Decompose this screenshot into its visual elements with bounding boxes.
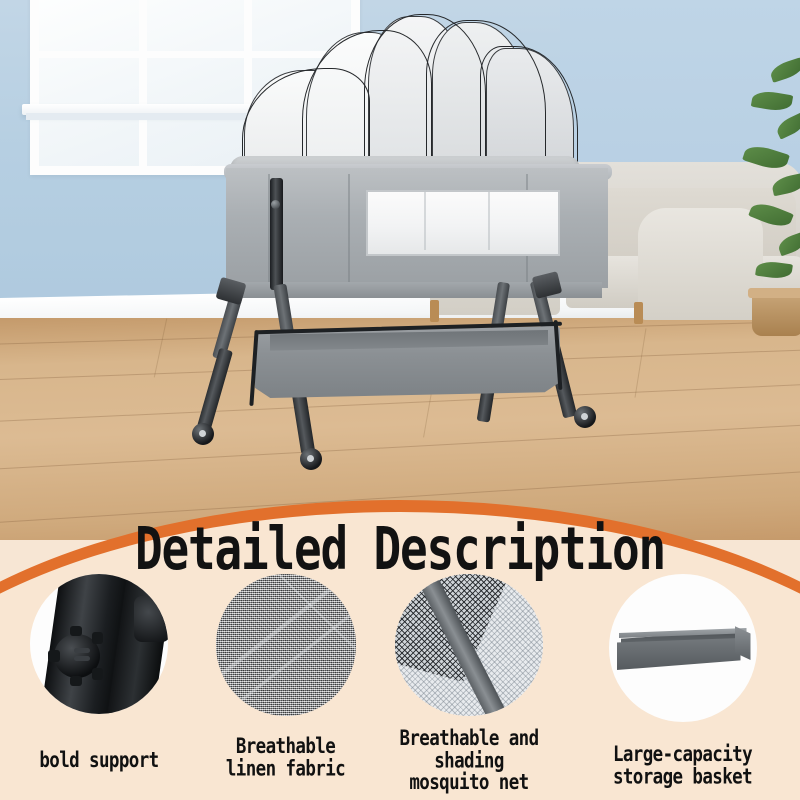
feature-caption: Breathable linen fabric xyxy=(198,736,373,781)
caster-hub xyxy=(581,413,588,420)
bassinet-mesh-window xyxy=(366,190,560,256)
caption-line: Large-capacity xyxy=(565,744,800,766)
feature-item[interactable]: bold support xyxy=(0,572,198,792)
bassinet xyxy=(170,8,640,508)
caption-line: mosquito net xyxy=(373,773,565,795)
mosquito-net-photo xyxy=(395,574,543,716)
plant-pot-rim xyxy=(748,288,800,298)
caption-line: linen fabric xyxy=(198,758,373,780)
leg-lower-left xyxy=(197,348,233,431)
caption-line: shading xyxy=(373,750,565,772)
clamp-tube-photo xyxy=(30,574,168,714)
storage-basket-photo xyxy=(609,574,757,722)
window-mullion xyxy=(139,0,147,166)
page-title: Detailed Description xyxy=(0,519,800,578)
product-hero-photo xyxy=(0,0,800,540)
feature-list: bold support Breathable linen fabric xyxy=(0,572,800,792)
height-adjust-tube xyxy=(270,178,283,290)
product-detail-page: Detailed Description bold support xyxy=(0,0,800,800)
armchair-near-arm xyxy=(638,208,763,320)
feature-item[interactable]: Breathable and shading mosquito net xyxy=(373,572,565,792)
feature-item[interactable]: Large-capacity storage basket xyxy=(565,572,800,792)
feature-caption: Large-capacity storage basket xyxy=(565,744,800,789)
plant-pot xyxy=(752,292,800,336)
feature-item[interactable]: Breathable linen fabric xyxy=(198,572,373,792)
caption-line: Breathable xyxy=(198,736,373,758)
linen-fabric-photo xyxy=(216,574,356,716)
mosquito-net-canopy xyxy=(240,8,570,176)
feature-caption: Breathable and shading mosquito net xyxy=(373,728,565,795)
feature-caption: bold support xyxy=(0,750,198,772)
caster-hub xyxy=(199,430,206,437)
caption-line: Breathable and xyxy=(373,728,565,750)
tube-knob xyxy=(271,200,280,209)
caption-line: storage basket xyxy=(565,766,800,788)
